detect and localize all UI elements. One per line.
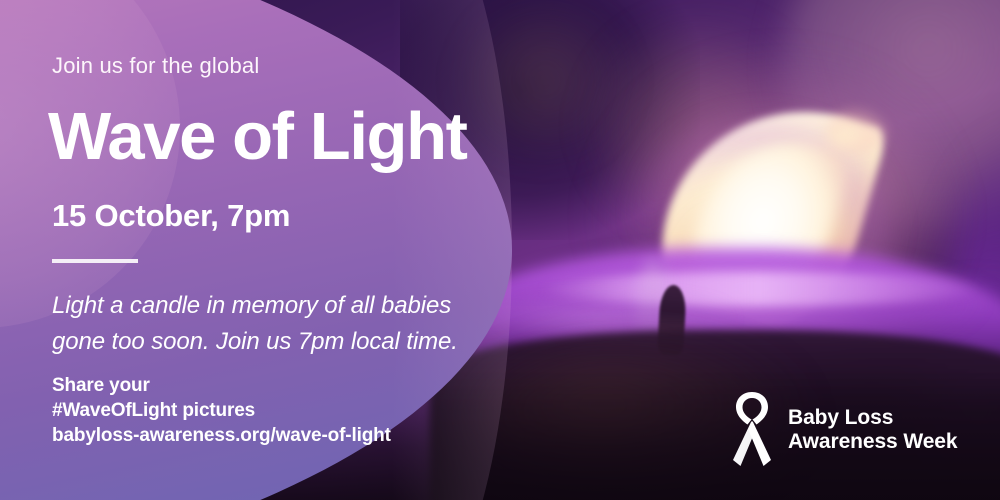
awareness-ribbon-icon [728, 388, 776, 472]
logo-wordmark: Baby Loss Awareness Week [788, 406, 957, 454]
wave-of-light-poster: Join us for the global Wave of Light 15 … [0, 0, 1000, 500]
panel-content: Join us for the global Wave of Light 15 … [52, 0, 482, 500]
logo-line-1: Baby Loss [788, 406, 957, 430]
share-line-1: Share your [52, 373, 391, 398]
share-url[interactable]: babyloss-awareness.org/wave-of-light [52, 423, 391, 448]
flame-tip [826, 110, 886, 154]
page-title: Wave of Light [48, 103, 467, 170]
event-date: 15 October, 7pm [52, 198, 290, 234]
share-hashtag: #WaveOfLight pictures [52, 398, 391, 423]
body-line-1: Light a candle in memory of all babies [52, 292, 451, 319]
share-block: Share your #WaveOfLight pictures babylos… [52, 373, 391, 448]
eyebrow-text: Join us for the global [52, 53, 259, 79]
logo-line-2: Awareness Week [788, 430, 957, 454]
baby-loss-awareness-week-logo: Baby Loss Awareness Week [728, 388, 957, 472]
divider-rule [52, 259, 138, 263]
body-copy: Light a candle in memory of all babies g… [52, 288, 472, 360]
body-line-2: gone too soon. Join us 7pm local time. [52, 328, 458, 355]
